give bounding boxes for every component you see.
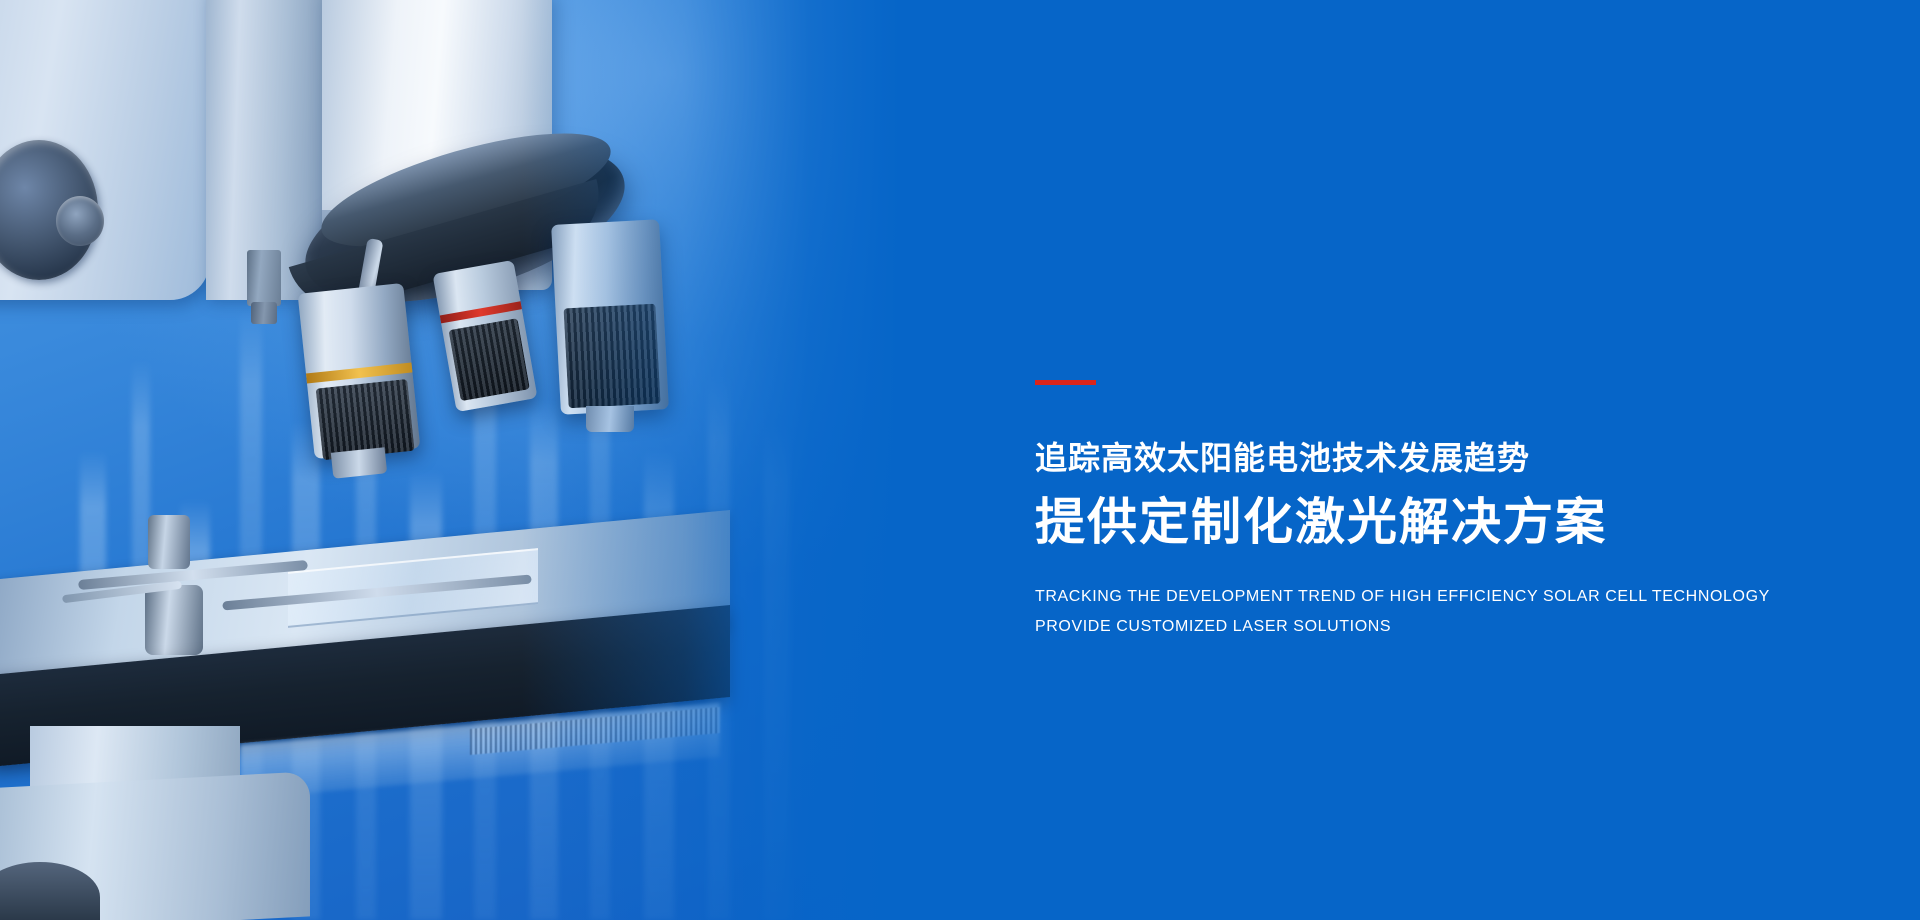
headline-title: 提供定制化激光解决方案 bbox=[1035, 494, 1835, 550]
english-subtitle-line-1: TRACKING THE DEVELOPMENT TREND OF HIGH E… bbox=[1035, 582, 1835, 612]
hero-banner: 追踪高效太阳能电池技术发展趋势 提供定制化激光解决方案 TRACKING THE… bbox=[0, 0, 1920, 920]
accent-bar bbox=[1035, 380, 1096, 385]
headline-subtitle: 追踪高效太阳能电池技术发展趋势 bbox=[1035, 441, 1835, 476]
hero-content: 追踪高效太阳能电池技术发展趋势 提供定制化激光解决方案 TRACKING THE… bbox=[1035, 380, 1835, 642]
microscope-photo bbox=[0, 0, 900, 920]
english-subtitle-line-2: PROVIDE CUSTOMIZED LASER SOLUTIONS bbox=[1035, 612, 1835, 642]
photo-fade-overlay bbox=[0, 0, 900, 920]
